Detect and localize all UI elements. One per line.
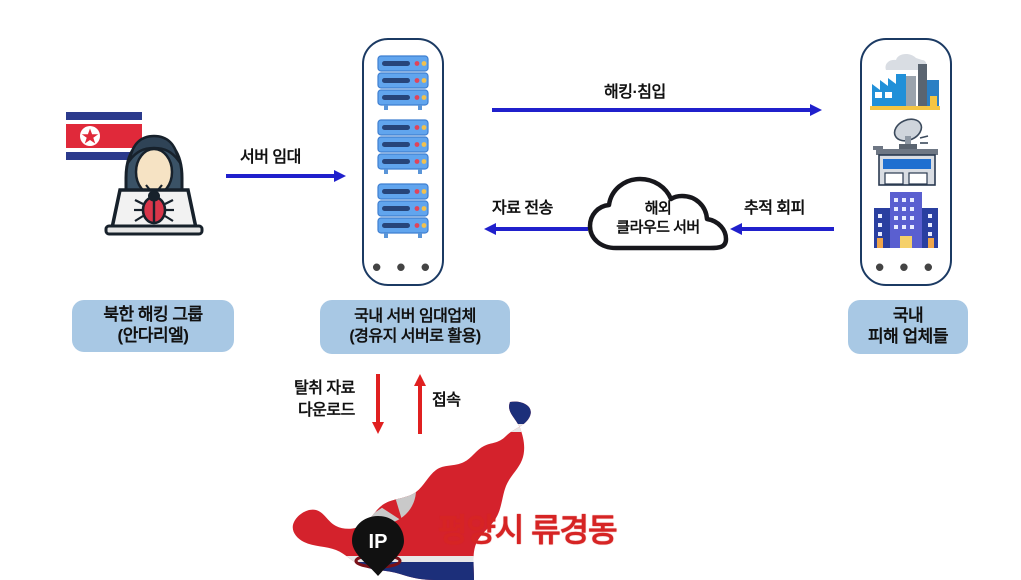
cloud-node: 해외 클라우드 서버 — [586, 168, 730, 260]
arrow-label-data-transfer: 자료 전송 — [492, 194, 553, 218]
server-rack-ellipsis: • • • — [364, 254, 442, 280]
city-label: 평양시 류경동 — [438, 505, 617, 551]
arrow-trace-evasion — [730, 223, 834, 235]
arrow-head — [334, 170, 346, 182]
arrow-head — [414, 374, 426, 386]
arrow-head — [730, 223, 742, 235]
attacker-label-line1: 북한 해킹 그룹 — [103, 305, 202, 326]
victims-label-line2: 피해 업체들 — [868, 327, 948, 348]
arrow-shaft — [226, 174, 336, 178]
office-buildings-icon — [874, 192, 938, 248]
hacker-with-laptop-icon — [62, 100, 242, 240]
victims-container: • • • — [860, 38, 952, 286]
victims-ellipsis: • • • — [862, 254, 950, 280]
attacker-label: 북한 해킹 그룹 (안다리엘) — [72, 300, 234, 352]
cloud-label-line2: 클라우드 서버 — [586, 219, 730, 238]
arrow-label-stolen-download-line1: 탈취 자료 — [294, 378, 355, 400]
cloud-label: 해외 클라우드 서버 — [586, 200, 730, 238]
server-company-label-line1: 국내 서버 임대업체 — [354, 307, 476, 327]
arrow-head — [484, 223, 496, 235]
factory-icon — [870, 54, 940, 110]
arrow-data-transfer — [484, 223, 588, 235]
attacker-node — [62, 100, 242, 240]
arrow-shaft — [492, 108, 812, 112]
arrow-hacking-intrusion — [492, 104, 822, 116]
ip-pin-label: IP — [369, 531, 388, 553]
server-company-label: 국내 서버 임대업체 (경유지 서버로 활용) — [320, 300, 510, 354]
arrow-shaft — [494, 227, 588, 231]
arrow-label-hacking-intrusion: 해킹·침입 — [604, 78, 666, 102]
victims-label: 국내 피해 업체들 — [848, 300, 968, 354]
attacker-label-line2: (안다리엘) — [118, 326, 189, 347]
cloud-label-line1: 해외 — [586, 200, 730, 219]
diagram-canvas: 북한 해킹 그룹 (안다리엘) 서버 임대 — [0, 0, 1021, 580]
server-company-container: • • • — [362, 38, 444, 286]
arrow-label-trace-evasion: 추적 회피 — [744, 194, 805, 218]
arrow-server-lease — [226, 170, 346, 182]
arrow-head — [810, 104, 822, 116]
server-company-label-line2: (경유지 서버로 활용) — [349, 327, 480, 347]
arrow-shaft — [740, 227, 834, 231]
north-korea-map-icon: IP — [278, 398, 578, 580]
victims-label-line1: 국내 — [893, 306, 923, 327]
north-korea-map-node: IP — [278, 398, 578, 580]
arrow-label-server-lease: 서버 임대 — [240, 143, 301, 167]
server-rack-icon — [364, 40, 442, 250]
satellite-station-icon — [873, 115, 938, 185]
